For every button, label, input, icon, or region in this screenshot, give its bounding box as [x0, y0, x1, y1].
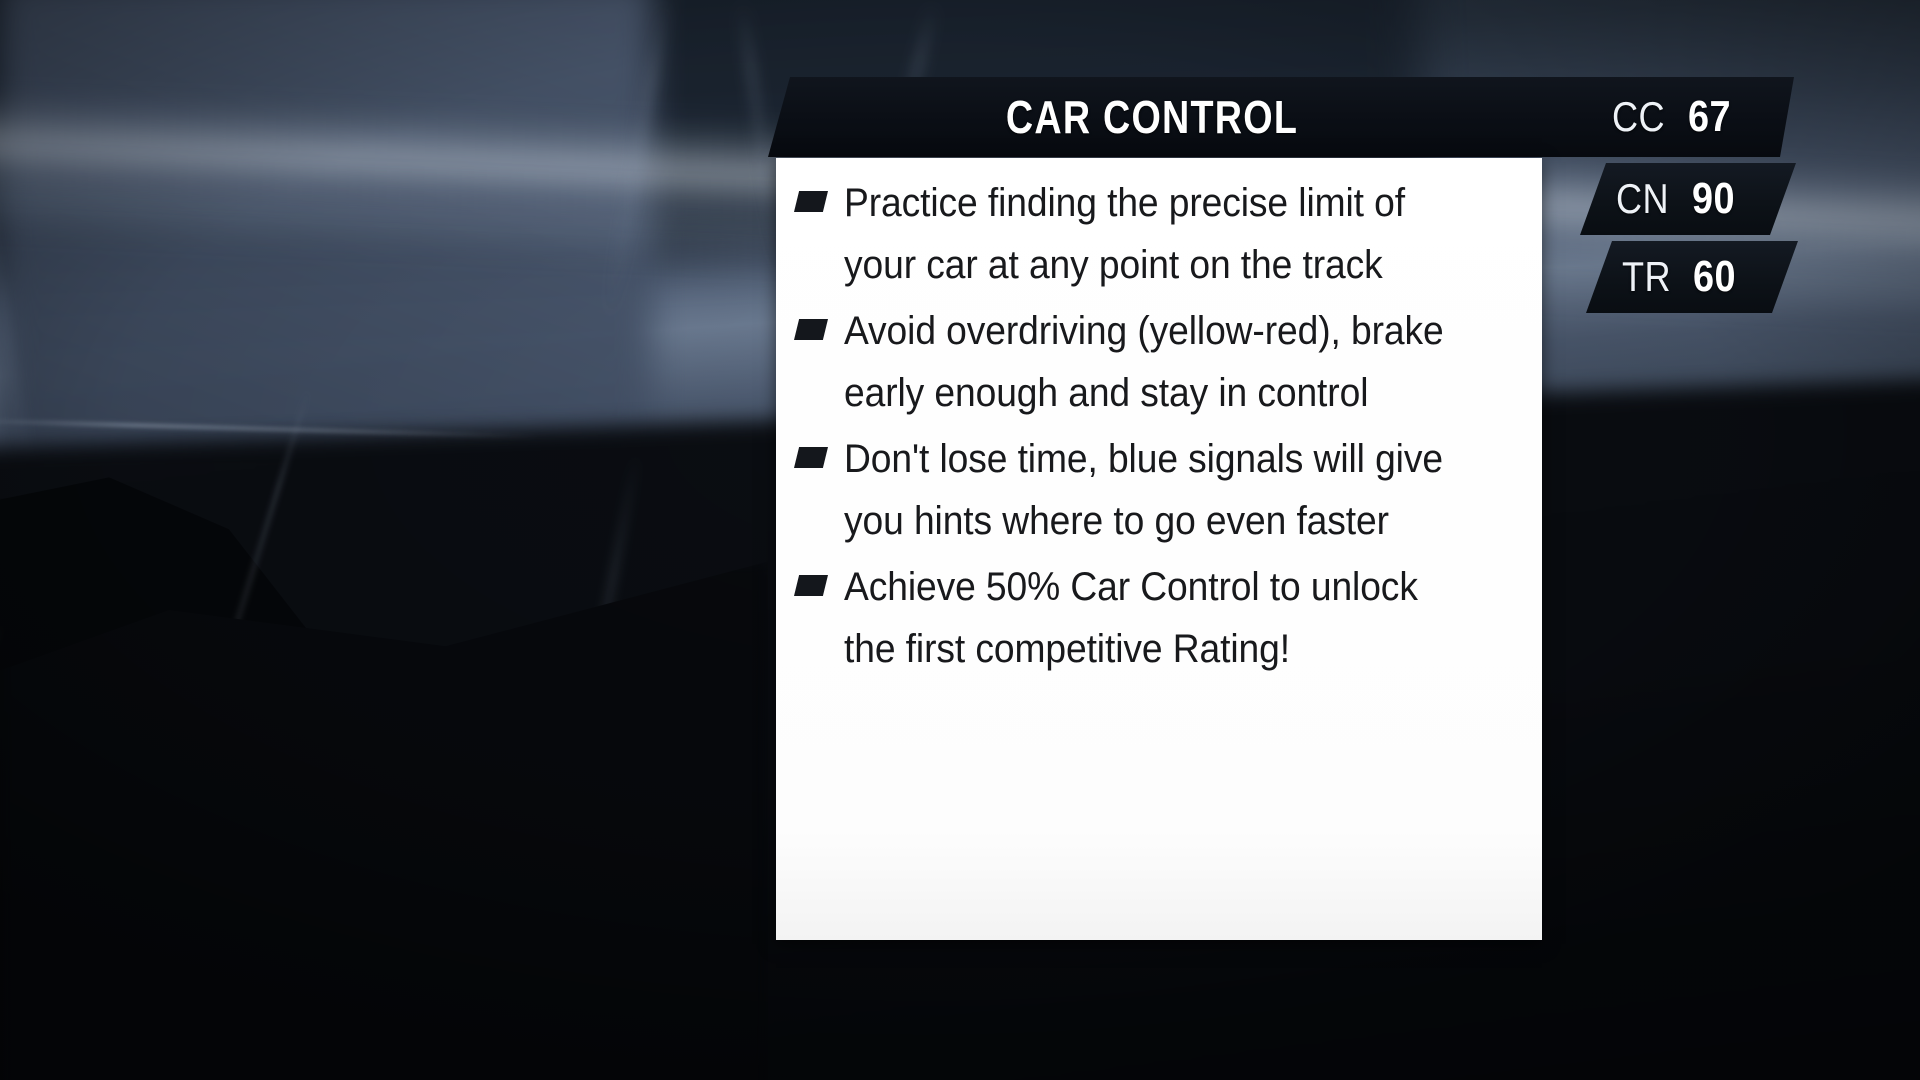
game-screen: CAR CONTROL CC 67 CN 90 TR 60 Practice f… — [0, 0, 1920, 1080]
list-item: Practice finding the precise limit of yo… — [790, 172, 1518, 296]
bullet-parallelogram-icon — [794, 319, 828, 340]
stat-key-cn: CN — [1616, 175, 1669, 223]
bullet-parallelogram-icon — [794, 191, 828, 212]
bullet-parallelogram-icon — [794, 575, 828, 596]
stat-key-cc: CC — [1612, 93, 1665, 141]
car-control-tooltip: CAR CONTROL CC 67 CN 90 TR 60 Practice f… — [0, 0, 1920, 1080]
page-title: CAR CONTROL — [837, 77, 1467, 157]
stat-badge-cc: CC 67 — [1600, 77, 1790, 157]
tip-text: Don't lose time, blue signals will give … — [844, 428, 1471, 552]
stat-key-tr: TR — [1622, 253, 1671, 301]
list-item: Achieve 50% Car Control to unlock the fi… — [790, 556, 1518, 680]
stat-value-tr: 60 — [1693, 252, 1736, 302]
tips-list: Practice finding the precise limit of yo… — [790, 172, 1518, 680]
stat-value-cn: 90 — [1692, 174, 1735, 224]
tip-text: Practice finding the precise limit of yo… — [844, 172, 1471, 296]
bullet-parallelogram-icon — [794, 447, 828, 468]
tooltip-body-panel: Practice finding the precise limit of yo… — [776, 158, 1542, 940]
stat-badge-tr: TR 60 — [1586, 241, 1798, 313]
tip-text: Achieve 50% Car Control to unlock the fi… — [844, 556, 1471, 680]
list-item: Avoid overdriving (yellow-red), brake ea… — [790, 300, 1518, 424]
tip-text: Avoid overdriving (yellow-red), brake ea… — [844, 300, 1471, 424]
stat-value-cc: 67 — [1688, 92, 1731, 142]
stat-badge-cn: CN 90 — [1580, 163, 1796, 235]
list-item: Don't lose time, blue signals will give … — [790, 428, 1518, 552]
